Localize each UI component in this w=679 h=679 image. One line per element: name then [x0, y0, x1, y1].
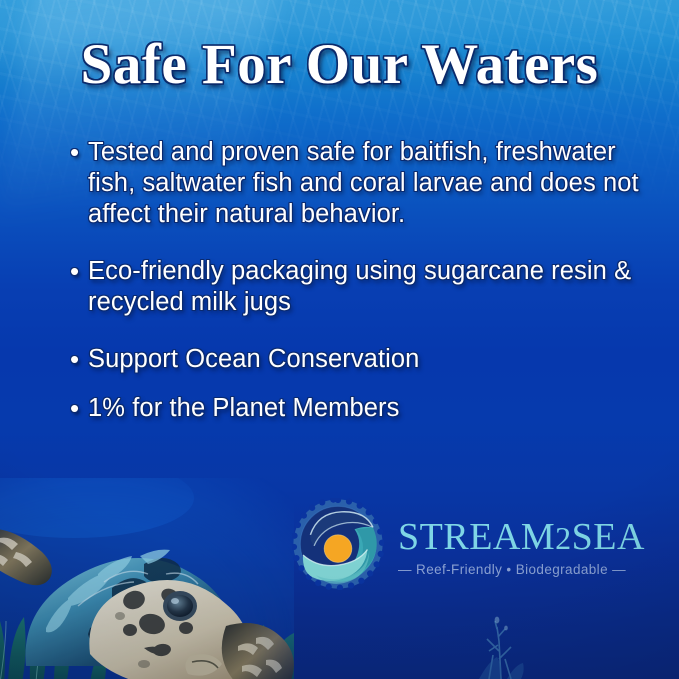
promo-graphic: Safe For Our Waters • Tested and proven …: [0, 0, 679, 679]
vignette-overlay: [0, 0, 679, 679]
